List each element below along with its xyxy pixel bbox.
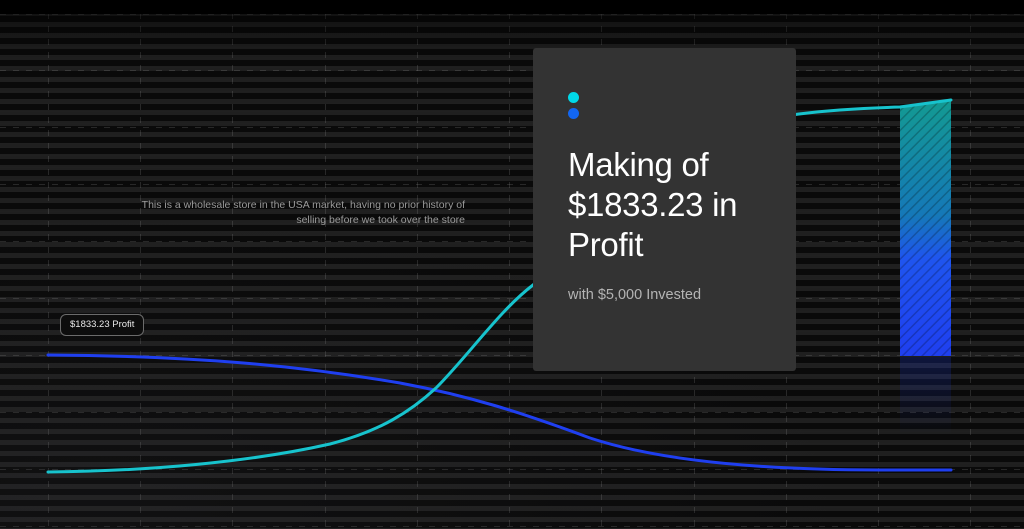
series-cyan-line — [48, 100, 951, 472]
profit-badge: $1833.23 Profit — [60, 314, 144, 336]
card-title: Making of $1833.23 in Profit — [568, 145, 761, 265]
chart-svg — [0, 0, 1024, 529]
series-blue-line — [48, 355, 951, 470]
legend-dot-cyan-icon — [568, 92, 579, 103]
top-mask — [0, 0, 1024, 14]
legend-dots — [568, 92, 761, 119]
legend-dot-blue-icon — [568, 108, 579, 119]
info-card: Making of $1833.23 in Profit with $5,000… — [533, 48, 796, 371]
bar-reflection — [900, 357, 951, 435]
card-subtitle: with $5,000 Invested — [568, 287, 761, 303]
chart-annotation-note: This is a wholesale store in the USA mar… — [120, 198, 465, 228]
chart-canvas: This is a wholesale store in the USA mar… — [0, 0, 1024, 529]
final-profit-bar — [900, 100, 951, 356]
